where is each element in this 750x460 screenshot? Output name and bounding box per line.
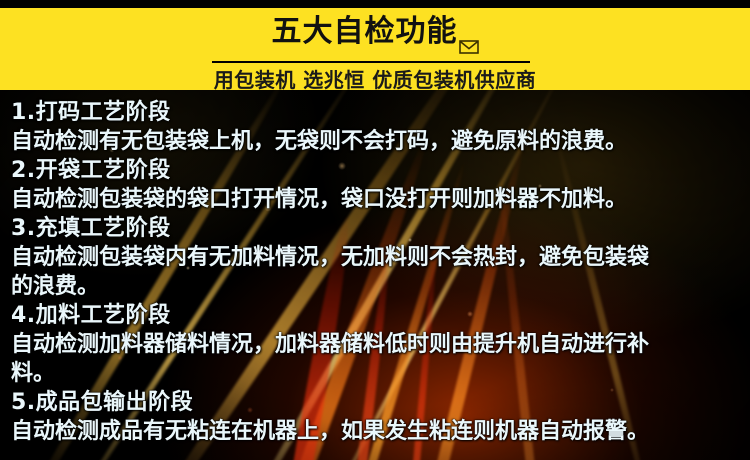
feature-line: 料。 [11,359,750,388]
feature-line: 自动检测成品有无粘连在机器上，如果发生粘连则机器自动报警。 [11,417,750,446]
header-subtitle-row: 用包装机 选兆恒 优质包装机供应商 [0,64,750,92]
envelope-icon [459,40,479,54]
feature-line: 自动检测加料器储料情况，加料器储料低时则由提升机自动进行补 [11,330,750,359]
page-subtitle: 用包装机 选兆恒 优质包装机供应商 [214,64,536,93]
feature-line: 的浪费。 [11,272,750,301]
promo-banner-page: 五大自检功能 用包装机 选兆恒 优质包装机供应商 [0,0,750,460]
feature-line: 3.充填工艺阶段 [11,214,750,243]
feature-line: 2.开袋工艺阶段 [11,156,750,185]
feature-list: 1.打码工艺阶段 自动检测有无包装袋上机，无袋则不会打码，避免原料的浪费。 2.… [0,90,750,460]
feature-line: 自动检测包装袋的袋口打开情况，袋口没打开则加料器不加料。 [11,185,750,214]
header-banner: 五大自检功能 用包装机 选兆恒 优质包装机供应商 [0,8,750,90]
page-title: 五大自检功能 [272,17,458,47]
feature-line: 4.加料工艺阶段 [11,301,750,330]
feature-line: 5.成品包输出阶段 [11,388,750,417]
header-title-row: 五大自检功能 [0,10,750,54]
feature-line: 自动检测有无包装袋上机，无袋则不会打码，避免原料的浪费。 [11,127,750,156]
feature-line: 1.打码工艺阶段 [11,98,750,127]
feature-line: 自动检测包装袋内有无加料情况，无加料则不会热封，避免包装袋 [11,243,750,272]
top-black-strip [0,0,750,8]
